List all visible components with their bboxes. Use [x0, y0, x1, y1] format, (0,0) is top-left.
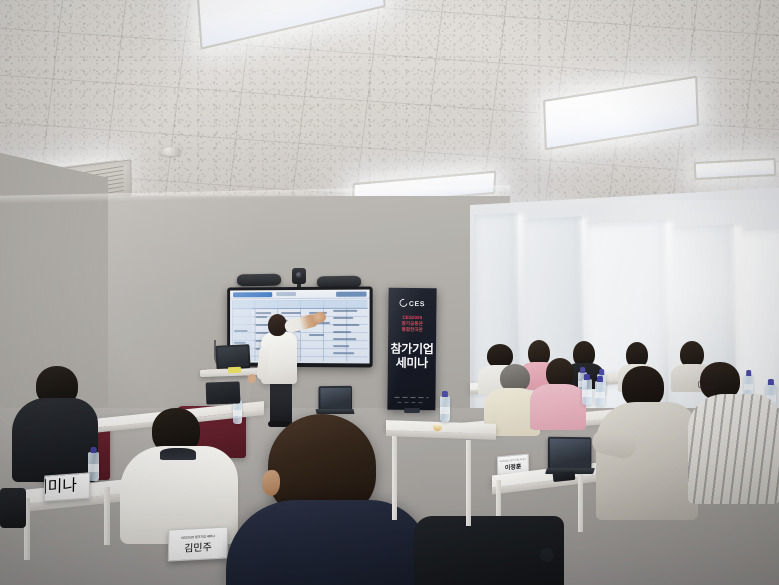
nameplate-name: 김민주	[184, 538, 212, 554]
bottle-cap	[584, 374, 590, 380]
banner-subtitle: CES2025 참가공동관 통합한국관	[388, 315, 436, 334]
bottle-label	[88, 464, 99, 472]
desk-leg	[578, 468, 583, 532]
smoke-detector-icon	[160, 147, 181, 156]
laptop-screen[interactable]	[548, 437, 591, 470]
nameplate-center: CES2025 참가기업 세미나 김민주	[168, 526, 228, 561]
slide-text-line	[333, 310, 357, 312]
presenter-legs	[270, 381, 292, 425]
cart-monitor[interactable]	[215, 344, 250, 370]
attendee-collar	[160, 448, 196, 460]
water-bottle[interactable]	[582, 379, 592, 405]
slide-text-line	[333, 345, 349, 347]
laptop-base[interactable]	[315, 409, 354, 414]
seminar-room-photo: CES CES2025 참가공동관 통합한국관 참가기업 세미나	[0, 0, 779, 585]
bottle-label	[440, 407, 450, 414]
bottle-label	[744, 384, 753, 390]
conference-camera-icon	[292, 268, 306, 284]
slide-text-line	[333, 338, 356, 340]
attendee-body	[688, 394, 779, 504]
slide-text-line	[256, 312, 272, 314]
slide-text-line	[333, 331, 351, 333]
speaker-bar-left	[237, 274, 281, 287]
sticky-note	[228, 367, 241, 374]
secondary-monitor[interactable]	[206, 381, 241, 404]
attendee-body	[596, 402, 698, 520]
attendee-body	[12, 398, 98, 482]
bottle-cap	[768, 379, 774, 385]
banner-logo-text: CES	[409, 301, 425, 308]
water-bottle[interactable]	[595, 381, 605, 406]
slide-text-line	[333, 324, 359, 326]
slide-text-line	[309, 334, 324, 336]
bottle-cap	[580, 367, 586, 373]
slide-text-line	[333, 317, 353, 319]
foreground-attendee-ear	[262, 470, 280, 496]
desk-leg	[392, 436, 397, 520]
slide-toolbar	[230, 290, 369, 300]
keyboard[interactable]	[206, 369, 228, 374]
laptop-screen[interactable]	[319, 386, 352, 410]
bottle-label	[595, 392, 605, 399]
water-bottle[interactable]	[440, 396, 450, 422]
slide-text-line	[281, 312, 301, 314]
bag[interactable]	[0, 488, 26, 528]
bottle-label	[233, 410, 242, 416]
slide-toolbar-chip	[336, 291, 366, 296]
banner-headline: 참가기업 세미나	[388, 343, 436, 371]
banner-headline-line2: 세미나	[388, 357, 436, 371]
banner-subtitle-line3: 통합한국관	[388, 327, 436, 334]
slide-active-tab	[233, 292, 272, 297]
foreground-attendee-body	[226, 500, 430, 585]
paper-cup[interactable]	[433, 424, 442, 431]
bottle-cap	[599, 369, 605, 375]
slide-text-line	[333, 352, 354, 354]
attendee-glasses-icon	[698, 381, 718, 388]
chair-caster	[540, 548, 554, 562]
slide-text-line	[234, 330, 248, 332]
slide-text-line	[256, 316, 268, 318]
banner-logo: CES	[388, 298, 436, 309]
bottle-cap	[746, 370, 752, 376]
bottle-cap	[597, 376, 603, 382]
nameplate-left: CES2025 참가기업 세미나 송희운	[44, 472, 90, 501]
slide-tab	[276, 292, 296, 296]
office-chair[interactable]	[440, 440, 512, 502]
desk-leg	[104, 487, 110, 545]
bottle-cap	[90, 447, 97, 453]
bottle-label	[582, 390, 592, 397]
bottle-cap	[442, 391, 448, 397]
